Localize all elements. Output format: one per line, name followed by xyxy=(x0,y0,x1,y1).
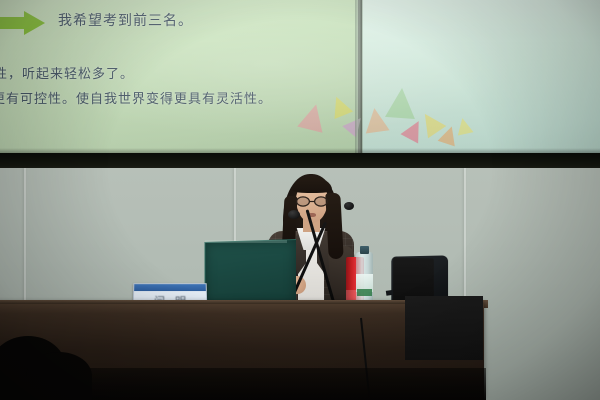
laptop-hinge-highlight xyxy=(205,240,287,243)
microphone-icon-second xyxy=(344,202,354,210)
lecture-hall-photo: 我希望考到前三名。 性，听起来轻松多了。 更有可控性。使自我世界变得更具有灵活性… xyxy=(0,0,600,400)
projection-panel-left: 我希望考到前三名。 性，听起来轻松多了。 更有可控性。使自我世界变得更具有灵活性… xyxy=(0,0,358,158)
microphone-icon xyxy=(288,210,300,219)
water-bottle-label-accent xyxy=(357,289,372,296)
slide-left-line-1: 我希望考到前三名。 xyxy=(58,10,193,30)
decorative-triangle xyxy=(385,87,417,119)
projection-panel-right: 我一定要考到前三名。 这样的表述，会多了一些选择性 对我们的思想、感觉及行为都有 xyxy=(362,0,600,158)
decorative-triangle xyxy=(455,117,474,136)
name-placard-accent-bar xyxy=(134,284,206,291)
screen-divider xyxy=(355,0,363,158)
podium-side-cabinet xyxy=(405,296,483,360)
right-arrow-icon xyxy=(0,10,46,36)
slide-left-line-3: 更有可控性。使自我世界变得更具有灵活性。 xyxy=(0,88,272,107)
eyeglasses-icon xyxy=(295,196,329,207)
slide-left-line-2: 性，听起来轻松多了。 xyxy=(0,63,134,82)
laptop-screen-lid xyxy=(205,239,296,306)
water-bottle-cap xyxy=(360,246,369,254)
projection-screen: 我希望考到前三名。 性，听起来轻松多了。 更有可控性。使自我世界变得更具有灵活性… xyxy=(0,0,600,158)
audience-silhouette xyxy=(26,352,92,400)
